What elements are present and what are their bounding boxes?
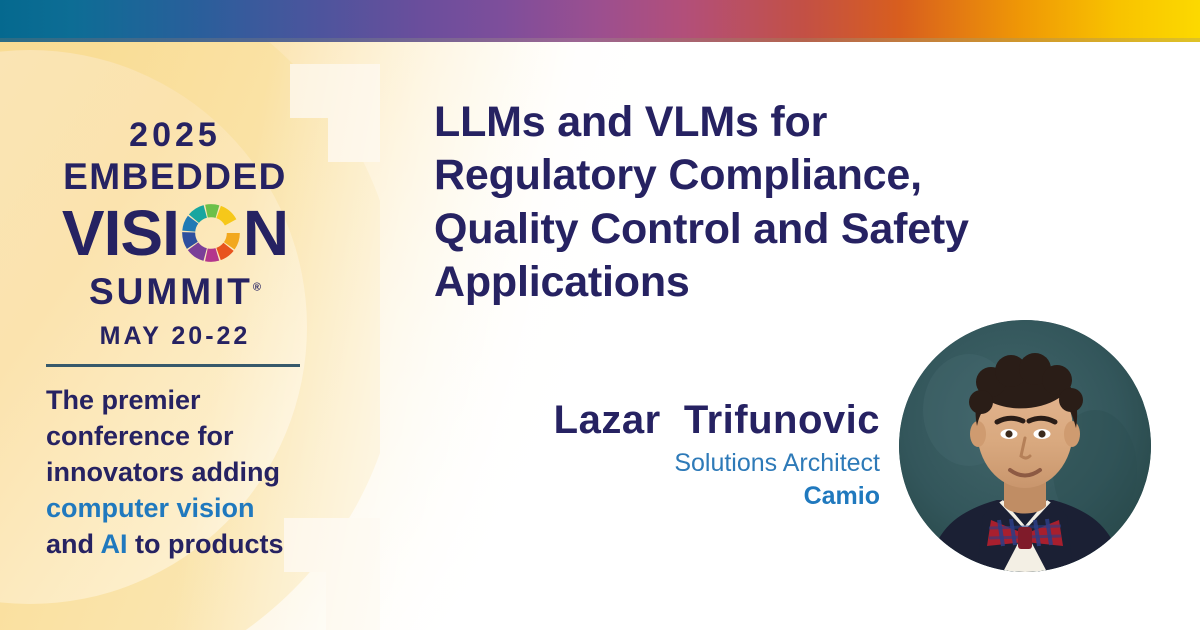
speaker-name: Lazar Trifunovic bbox=[430, 398, 880, 442]
speaker-info: Lazar Trifunovic Solutions Architect Cam… bbox=[430, 398, 880, 511]
tagline-line-2: conference for bbox=[46, 421, 234, 451]
gradient-rainbow-bar bbox=[0, 0, 1200, 38]
logo-embedded-word: EMBEDDED bbox=[0, 156, 350, 199]
logo-dates: MAY 20-22 bbox=[0, 322, 350, 351]
logo-year: 2025 bbox=[0, 118, 350, 152]
brand-divider bbox=[46, 364, 300, 367]
session-title: LLMs and VLMs for Regulatory Compliance,… bbox=[434, 96, 1154, 309]
tagline-line-4-post: to products bbox=[128, 529, 284, 559]
session-title-line: Quality Control and Safety bbox=[434, 203, 1154, 256]
session-title-line: Applications bbox=[434, 256, 1154, 309]
tagline-accent-computer-vision: computer vision bbox=[46, 493, 255, 523]
embedded-vision-summit-logo: 2025 EMBEDDED VISI N SUMMIT® bbox=[0, 118, 350, 351]
tagline-line-1: The premier bbox=[46, 385, 201, 415]
tagline-line-4-pre: and bbox=[46, 529, 101, 559]
brand-tagline: The premier conference for innovators ad… bbox=[46, 383, 346, 563]
logo-summit-text: SUMMIT bbox=[89, 271, 253, 312]
speaker-organization: Camio bbox=[430, 481, 880, 511]
logo-vision-part2: N bbox=[243, 201, 288, 265]
session-title-line: Regulatory Compliance, bbox=[434, 149, 1154, 202]
speaker-portrait bbox=[899, 320, 1151, 572]
tagline-line-3: innovators adding bbox=[46, 457, 280, 487]
logo-summit-word: SUMMIT® bbox=[89, 271, 261, 313]
speaker-role: Solutions Architect bbox=[430, 448, 880, 478]
logo-vision-part1: VISI bbox=[62, 201, 179, 265]
presentation-slide: 2025 EMBEDDED VISI N SUMMIT® bbox=[0, 0, 1200, 630]
logo-summit-row: SUMMIT® bbox=[0, 265, 350, 313]
session-title-line: LLMs and VLMs for bbox=[434, 96, 1154, 149]
tagline-accent-ai: AI bbox=[101, 529, 128, 559]
logo-vision-word: VISI N bbox=[0, 201, 350, 265]
vision-ring-icon bbox=[180, 202, 242, 264]
registered-mark-icon: ® bbox=[253, 281, 261, 293]
